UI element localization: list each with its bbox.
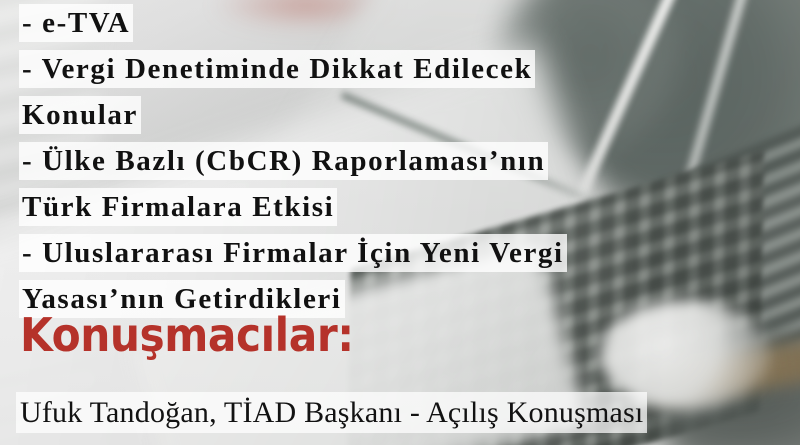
speaker-name-text: Ufuk Tandoğan, TİAD Başkanı - Açılış Kon…: [20, 396, 643, 429]
agenda-line: Türk Firmalara Etkisi: [0, 184, 800, 230]
slide-canvas: - e-TVA - Vergi Denetiminde Dikkat Edile…: [0, 0, 800, 445]
agenda-line-text: - e-TVA: [22, 7, 130, 39]
speaker-entry: Ufuk Tandoğan, TİAD Başkanı - Açılış Kon…: [0, 391, 800, 435]
agenda-line-text: Türk Firmalara Etkisi: [22, 191, 334, 223]
agenda-line: - Vergi Denetiminde Dikkat Edilecek: [0, 46, 800, 92]
agenda-line: Konular: [0, 92, 800, 138]
agenda-line: - e-TVA: [0, 0, 800, 46]
agenda-line-text: - Uluslararası Firmalar İçin Yeni Vergi: [22, 237, 564, 269]
agenda-line: - Ülke Bazlı (CbCR) Raporlaması’nın: [0, 138, 800, 184]
agenda-line-text: - Ülke Bazlı (CbCR) Raporlaması’nın: [22, 145, 545, 177]
agenda-line-text: Konular: [22, 99, 138, 131]
agenda-line-text: - Vergi Denetiminde Dikkat Edilecek: [22, 53, 532, 85]
agenda-line: - Uluslararası Firmalar İçin Yeni Vergi: [0, 230, 800, 276]
slide-content: - e-TVA - Vergi Denetiminde Dikkat Edile…: [0, 0, 800, 445]
speakers-heading: Konuşmacılar:: [20, 312, 354, 358]
agenda-list: - e-TVA - Vergi Denetiminde Dikkat Edile…: [0, 0, 800, 322]
